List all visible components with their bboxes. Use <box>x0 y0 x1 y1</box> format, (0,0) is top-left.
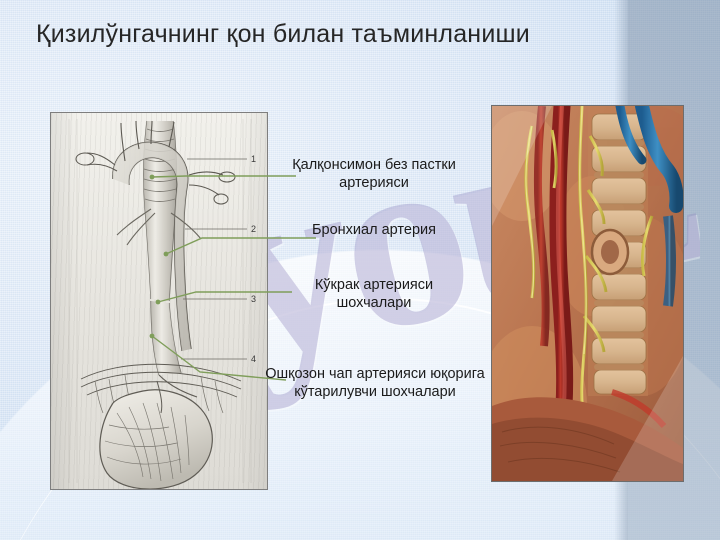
svg-text:2: 2 <box>251 224 256 234</box>
label-inferior-thyroid-artery: Қалқонсимон без пастки артерияси <box>276 157 472 192</box>
label-bronchial-artery: Бронхиал артерия <box>296 222 452 240</box>
page-title: Қизилўнгачнинг қон билан таъминланиши <box>36 20 696 49</box>
svg-text:4: 4 <box>251 354 256 364</box>
svg-text:1: 1 <box>251 154 256 164</box>
label-left-gastric-artery-branches: Ошқозон чап артерияси юқорига кўтарилувч… <box>262 366 488 401</box>
diagram-artwork: 1 2 3 4 <box>51 113 267 489</box>
dissection-photo <box>491 105 684 482</box>
svg-text:3: 3 <box>251 294 256 304</box>
photo-artwork <box>492 106 683 481</box>
slide: ziyouz Қизилўнгачнинг қон билан таъминла… <box>0 0 720 540</box>
label-thoracic-artery-branches: Кўкрак артерияси шохчалари <box>276 277 472 312</box>
esophagus-diagram: 1 2 3 4 <box>50 112 268 490</box>
